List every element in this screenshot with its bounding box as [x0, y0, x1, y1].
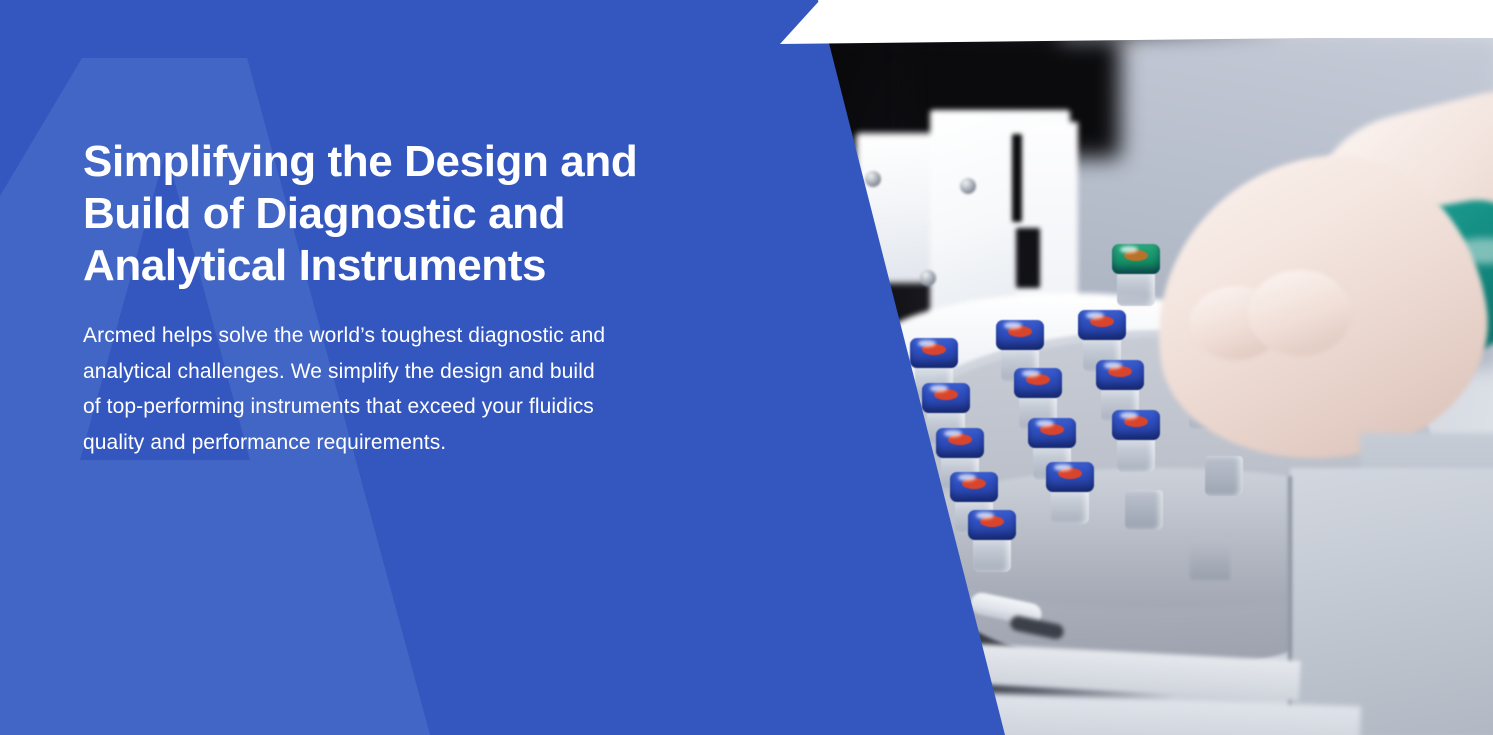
empty-vial-well — [1120, 468, 1168, 530]
lede-line-4: quality and performance requirements. — [83, 425, 703, 461]
glove-finger — [1248, 270, 1352, 356]
hero-copy-block: Simplifying the Design and Build of Diag… — [83, 136, 703, 460]
instrument-slot-lower — [1016, 228, 1040, 288]
lede-line-3: of top-performing instruments that excee… — [83, 389, 703, 425]
sample-vial — [968, 510, 1016, 572]
headline-line-2: Build of Diagnostic and — [83, 188, 703, 240]
carousel-notch — [1190, 538, 1230, 580]
hex-screw-icon — [920, 270, 936, 286]
sample-vial — [1046, 462, 1094, 524]
hex-screw-icon — [960, 178, 976, 194]
headline-line-3: Analytical Instruments — [83, 240, 703, 292]
instrument-side-panel — [1290, 468, 1493, 735]
hex-screw-icon — [865, 171, 881, 187]
sample-vial-green-cap — [1112, 244, 1160, 306]
page-title: Simplifying the Design and Build of Diag… — [83, 136, 703, 292]
hero-banner: Simplifying the Design and Build of Diag… — [0, 0, 1493, 735]
headline-line-1: Simplifying the Design and — [83, 136, 703, 188]
hero-description: Arcmed helps solve the world’s toughest … — [83, 318, 703, 460]
sample-vial — [1112, 410, 1160, 472]
instrument-slot-upper — [1012, 134, 1022, 222]
lede-line-2: analytical challenges. We simplify the d… — [83, 354, 703, 390]
lede-line-1: Arcmed helps solve the world’s toughest … — [83, 318, 703, 354]
